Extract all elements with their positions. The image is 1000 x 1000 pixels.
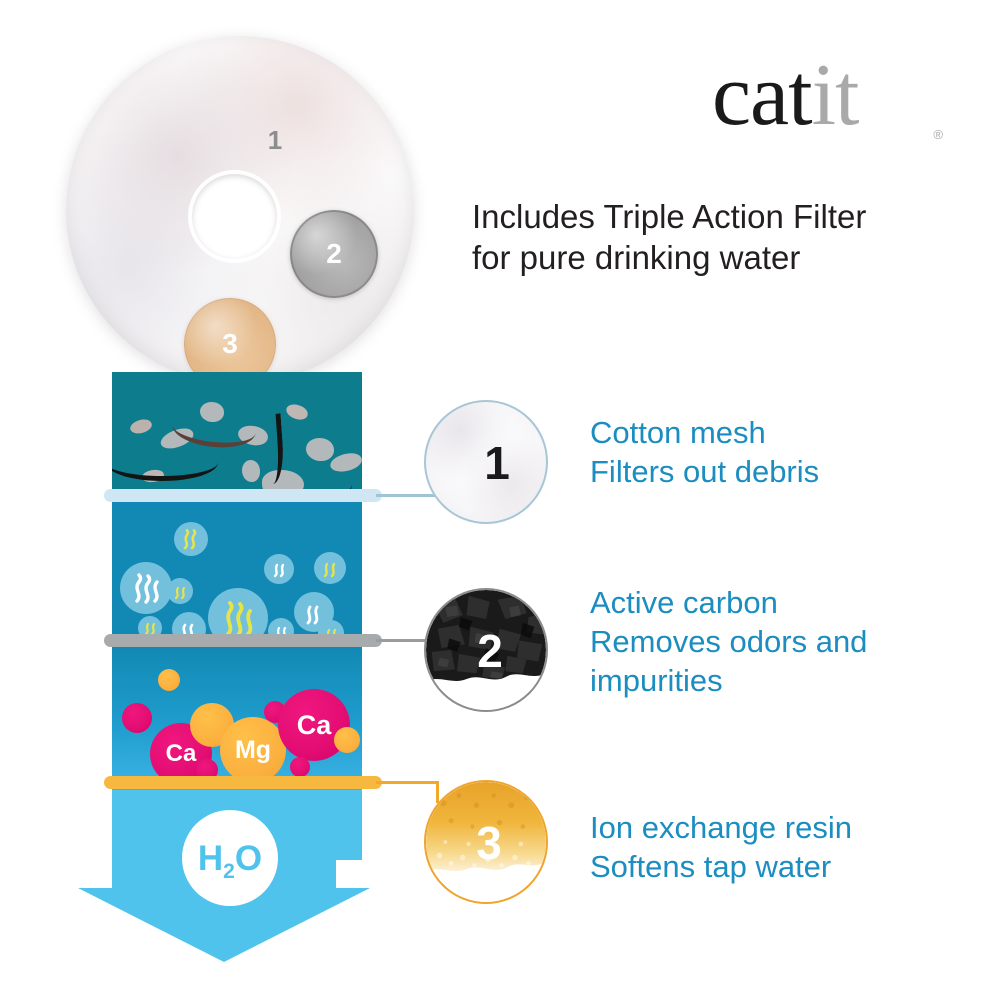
logo-wordmark: catit	[712, 52, 858, 140]
odor-wave-icon	[131, 571, 161, 605]
logo-it-text: it	[812, 47, 859, 144]
h2o-h: H	[198, 839, 223, 878]
mineral-bubble-small	[290, 757, 310, 777]
odor-wave-icon	[271, 559, 288, 579]
odor-bubble	[174, 522, 208, 556]
layer-minerals: Ca Mg Ca	[112, 647, 362, 790]
step-label-1: Cotton mesh Filters out debris	[590, 413, 920, 491]
mineral-bubble-small	[334, 727, 360, 753]
registered-trademark-icon: ®	[933, 127, 943, 142]
step-desc-1: Filters out debris	[590, 452, 920, 491]
step-desc-3: Softens tap water	[590, 847, 970, 886]
odor-wave-icon	[303, 599, 326, 626]
connector-line-1	[376, 494, 438, 497]
layer-debris	[112, 372, 362, 500]
step-title-3: Ion exchange resin	[590, 808, 970, 847]
disc-label-2: 2	[326, 238, 342, 270]
step-label-3: Ion exchange resin Softens tap water	[590, 808, 970, 886]
h2o-sub: 2	[223, 860, 235, 883]
odor-wave-icon	[221, 598, 255, 638]
layer-odors	[112, 500, 362, 647]
disc-label-1: 1	[260, 125, 290, 156]
step-circle-2: 2	[424, 588, 548, 712]
h2o-formula: H2O	[198, 841, 262, 876]
mineral-bubble-mg: Mg	[220, 717, 286, 783]
debris-particle	[129, 417, 154, 436]
odor-wave-icon	[173, 583, 188, 600]
step-title-1: Cotton mesh	[590, 413, 920, 452]
step-circle-3: 3	[424, 780, 548, 904]
odor-bubble	[314, 552, 346, 584]
step-number-3: 3	[426, 820, 546, 866]
step-desc-2: Removes odors and impurities	[590, 622, 920, 700]
disc-carbon-patch: 2	[290, 210, 378, 298]
odor-bubble	[167, 578, 193, 604]
mineral-label: Ca	[297, 710, 332, 741]
infographic-canvas: catit ® Includes Triple Action Filter fo…	[0, 0, 1000, 1000]
divider-cotton-mesh	[104, 489, 382, 502]
step-circle-1: 1	[424, 400, 548, 524]
step-number-1: 1	[426, 440, 546, 486]
step-label-2: Active carbon Removes odors and impuriti…	[590, 583, 920, 700]
catit-logo: catit ®	[712, 52, 927, 152]
logo-cat-text: cat	[712, 47, 812, 144]
mineral-label: Mg	[235, 736, 271, 765]
odor-wave-icon	[321, 558, 339, 579]
mineral-bubble-small	[158, 669, 180, 691]
odor-bubble	[120, 562, 172, 614]
mineral-label: Ca	[166, 740, 197, 768]
step-number-2: 2	[426, 628, 546, 674]
step-title-2: Active carbon	[590, 583, 920, 622]
h2o-badge: H2O	[182, 810, 278, 906]
debris-particle	[242, 460, 260, 482]
divider-ion-resin	[104, 776, 382, 789]
hair-strand	[112, 444, 218, 481]
page-title: Includes Triple Action Filter for pure d…	[472, 196, 892, 278]
divider-active-carbon	[104, 634, 382, 647]
debris-particle	[284, 402, 309, 422]
debris-particle	[306, 438, 334, 461]
h2o-o: O	[235, 839, 262, 878]
disc-center-hole	[192, 174, 277, 259]
mineral-bubble-small	[122, 703, 152, 733]
odor-bubble	[264, 554, 294, 584]
odor-wave-icon	[181, 528, 201, 551]
